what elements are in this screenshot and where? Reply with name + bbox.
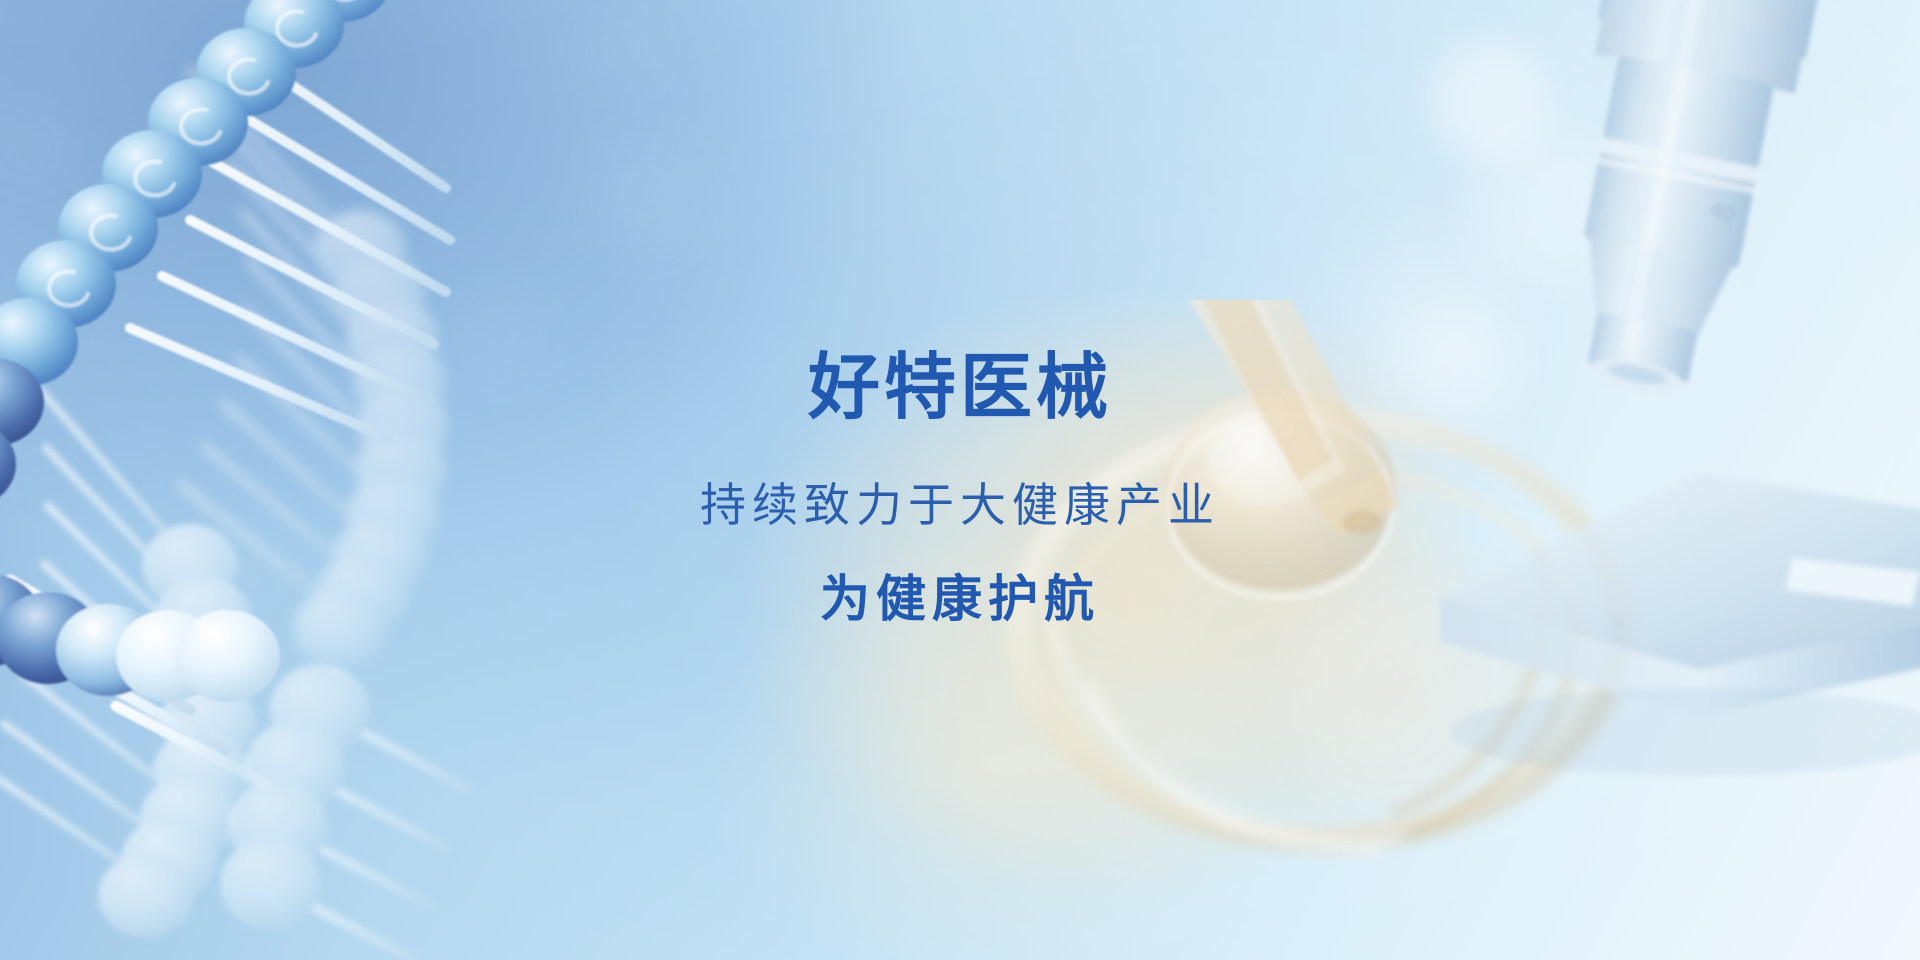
mission-subline: 持续致力于大健康产业 (700, 482, 1220, 528)
bokeh-light-circle (590, 20, 650, 80)
bokeh-light-circle (0, 120, 54, 174)
bokeh-light-circle (600, 150, 690, 240)
bokeh-light-circle (215, 655, 281, 721)
slogan-tagline: 为健康护航 (820, 574, 1100, 624)
bokeh-light-circle (1470, 130, 1620, 280)
hero-banner: 40 (0, 0, 1920, 960)
company-name-headline: 好特医械 (808, 352, 1112, 424)
hero-copy-block: 好特医械 持续致力于大健康产业 为健康护航 (0, 352, 1920, 624)
